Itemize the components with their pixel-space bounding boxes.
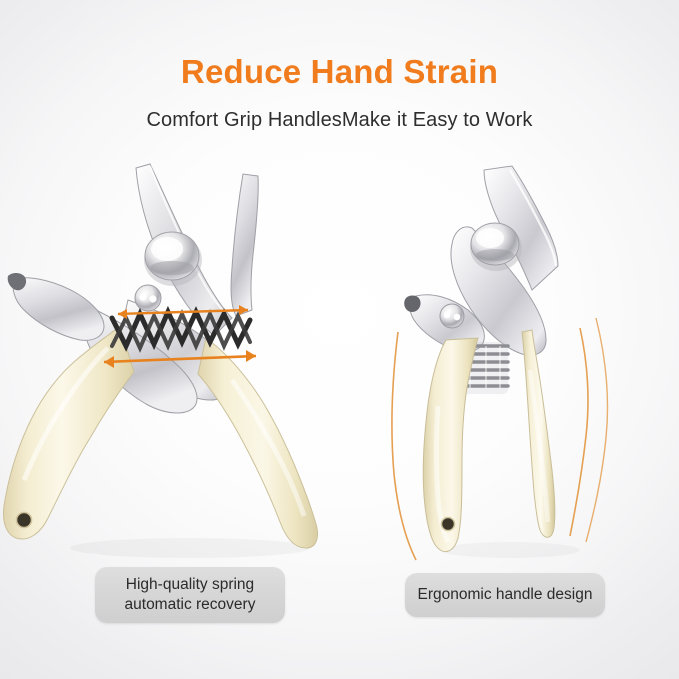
rivet: [440, 304, 464, 328]
contour-line-right-outer: [586, 318, 608, 542]
steel-shoulder: [13, 278, 104, 341]
drop-shadow: [440, 542, 580, 558]
product-marketing-image: Reduce Hand Strain Comfort Grip HandlesM…: [0, 0, 679, 679]
handle-left: [4, 326, 135, 539]
page-title: Reduce Hand Strain: [0, 55, 679, 88]
pivot-bolt: [144, 232, 202, 286]
pruning-shears-closed: [390, 150, 679, 570]
counter-blade: [231, 174, 258, 316]
contour-line-right-inner: [570, 328, 588, 536]
caption-handle-line1: Ergonomic handle design: [408, 585, 603, 605]
caption-spring-line2: automatic recovery: [115, 595, 266, 615]
contour-line-left: [392, 332, 416, 560]
caption-spring-line1: High-quality spring: [115, 575, 266, 595]
latch-tip: [8, 273, 26, 290]
page-subtitle: Comfort Grip HandlesMake it Easy to Work: [0, 108, 679, 132]
drop-shadow: [70, 538, 310, 558]
rivet: [135, 285, 161, 311]
caption-spring: High-quality spring automatic recovery: [95, 567, 285, 623]
handle-right: [198, 338, 318, 548]
pruning-shears-open: [0, 150, 360, 570]
caption-handle: Ergonomic handle design: [405, 573, 605, 617]
